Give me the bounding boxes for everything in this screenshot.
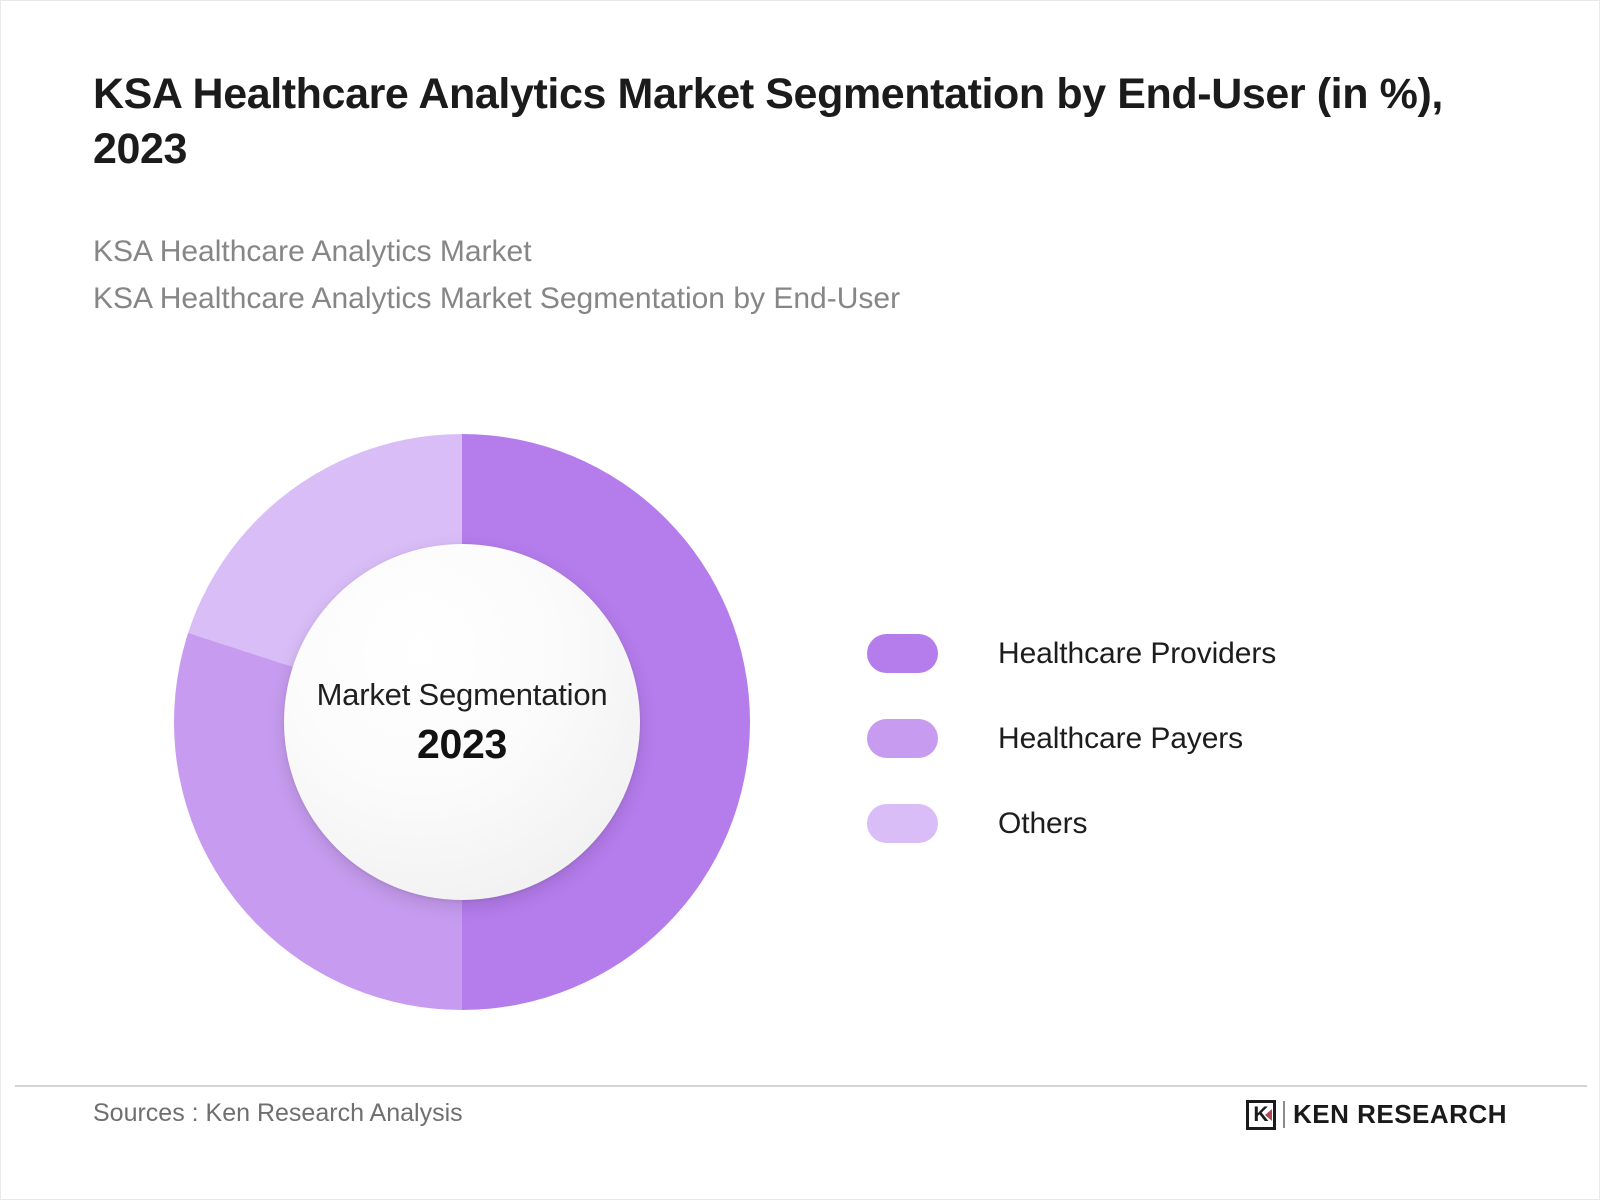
footer-source-text: Sources : Ken Research Analysis [93,1099,463,1128]
chart-legend: Healthcare ProvidersHealthcare PayersOth… [867,611,1276,866]
subtitle-block: KSA Healthcare Analytics Market KSA Heal… [93,229,1513,323]
donut-center-label: Market Segmentation [317,677,608,713]
legend-label: Others [998,807,1087,841]
legend-swatch-icon [867,634,938,673]
page-title: KSA Healthcare Analytics Market Segmenta… [93,67,1463,177]
logo-k-mark-icon: K [1246,1100,1276,1130]
subtitle-line-2: KSA Healthcare Analytics Market Segmenta… [93,276,1513,323]
logo-divider-icon [1283,1101,1285,1128]
ken-research-logo: K KEN RESEARCH [1246,1099,1507,1130]
logo-triangle-icon [1265,1109,1272,1121]
donut-center: Market Segmentation 2023 [284,544,640,900]
chart-area: Market Segmentation 2023 Healthcare Prov… [1,401,1600,1041]
donut-chart: Market Segmentation 2023 [174,434,750,1010]
legend-label: Healthcare Payers [998,722,1243,756]
legend-item[interactable]: Others [867,781,1276,866]
legend-item[interactable]: Healthcare Providers [867,611,1276,696]
header: KSA Healthcare Analytics Market Segmenta… [93,67,1513,323]
legend-label: Healthcare Providers [998,637,1276,671]
donut-center-value: 2023 [417,721,507,768]
footer-divider [15,1085,1587,1087]
chart-page: KSA Healthcare Analytics Market Segmenta… [0,0,1600,1200]
legend-item[interactable]: Healthcare Payers [867,696,1276,781]
legend-swatch-icon [867,719,938,758]
logo-wordmark: KEN RESEARCH [1293,1099,1507,1130]
legend-swatch-icon [867,804,938,843]
subtitle-line-1: KSA Healthcare Analytics Market [93,229,1513,276]
